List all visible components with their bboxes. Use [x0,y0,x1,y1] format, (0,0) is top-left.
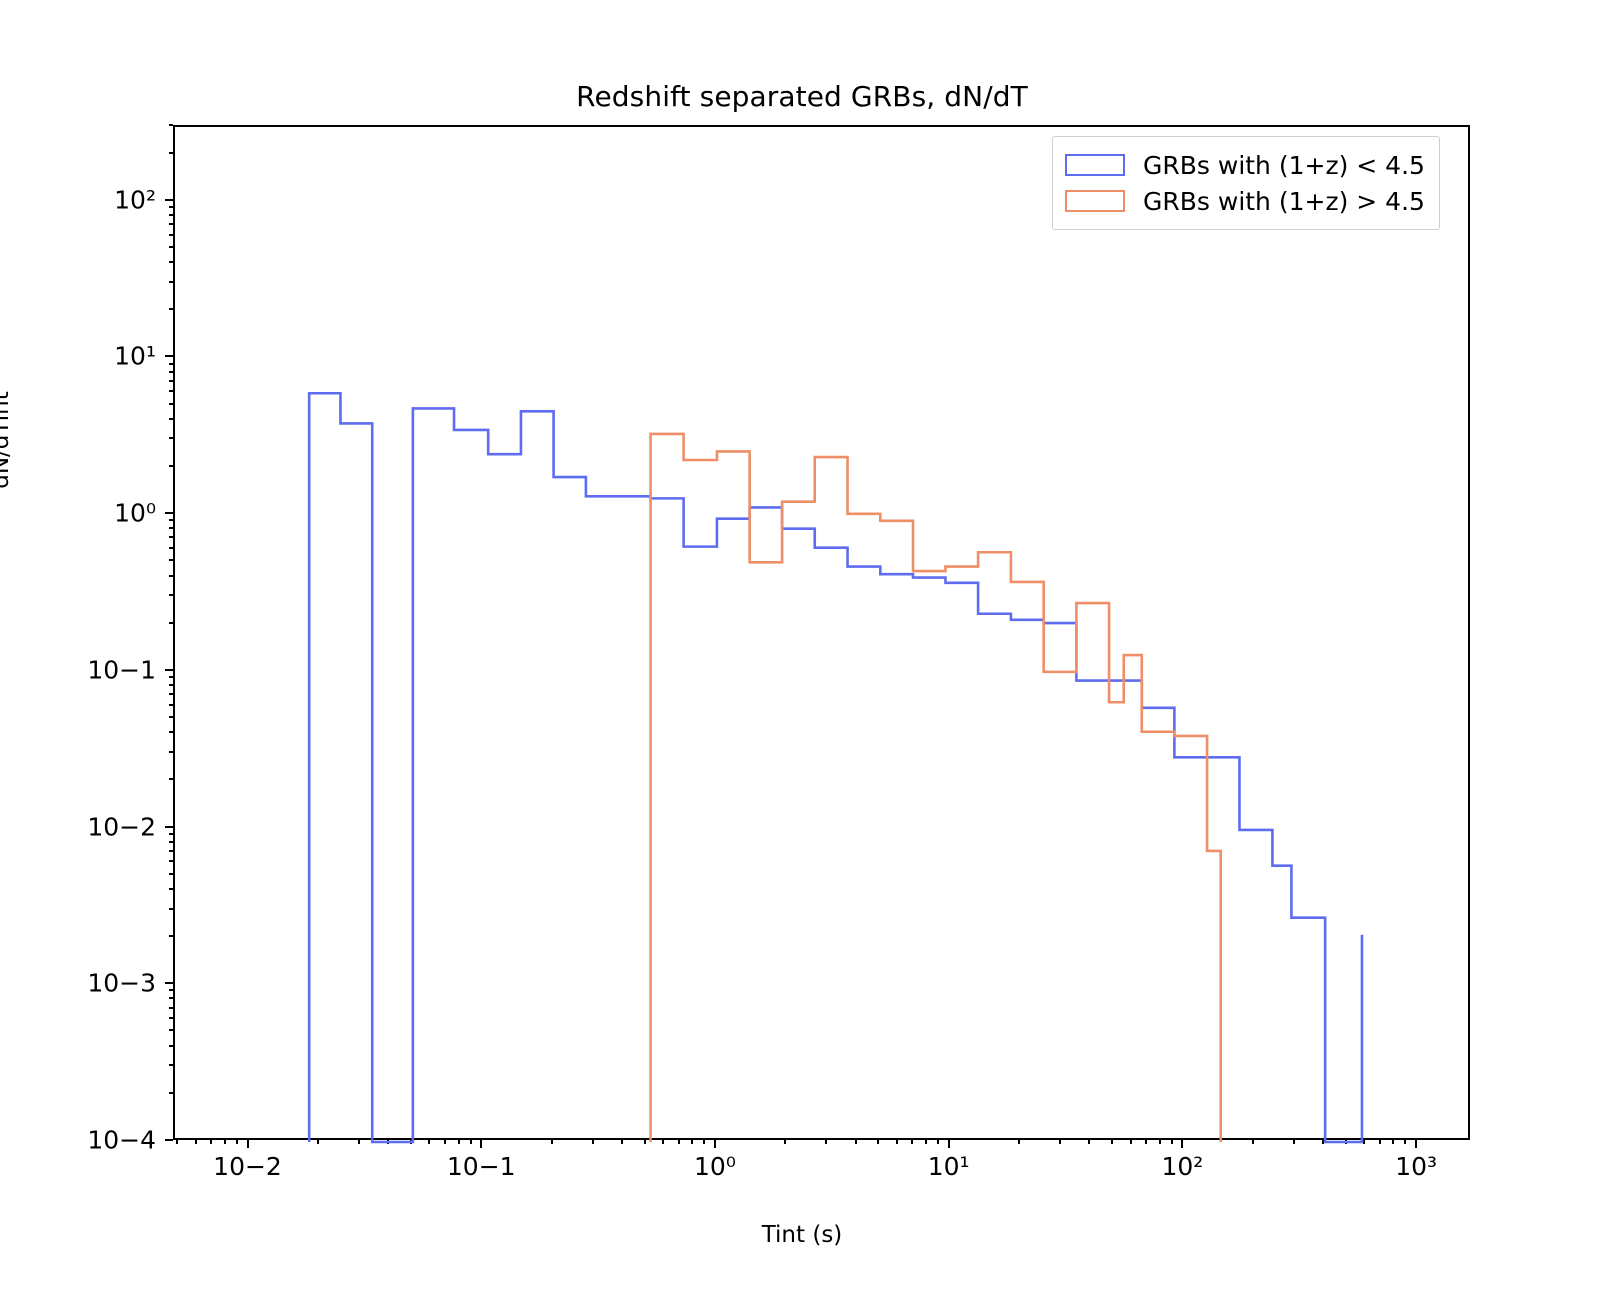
x-tick-label: 10¹ [928,1152,970,1181]
y-tick-major [165,355,173,357]
y-tick-label: 10⁰ [114,499,156,528]
x-tick-label: 10³ [1395,1152,1437,1181]
y-tick-major [165,669,173,671]
y-tick-label: 10−2 [87,812,156,841]
y-tick-major [165,826,173,828]
y-tick-label: 10−1 [87,655,156,684]
legend-item[interactable]: GRBs with (1+z) < 4.5 [1065,147,1425,183]
histogram-step-line [651,434,1221,1142]
x-axis-label: Tint (s) [0,1222,1604,1248]
histogram-curves [175,127,1472,1142]
chart-legend: GRBs with (1+z) < 4.5 GRBs with (1+z) > … [1052,136,1440,230]
legend-label-high-redshift: GRBs with (1+z) > 4.5 [1143,187,1425,216]
plot-area [173,125,1470,1140]
x-tick-label: 10−1 [447,1152,516,1181]
y-tick-major [165,199,173,201]
x-tick-label: 10² [1161,1152,1203,1181]
legend-item[interactable]: GRBs with (1+z) > 4.5 [1065,183,1425,219]
legend-swatch-high-redshift [1065,190,1125,212]
y-tick-major [165,982,173,984]
y-tick-major [165,1139,173,1141]
histogram-step-line [309,393,1362,1142]
y-tick-label: 10−4 [87,1126,156,1155]
x-tick-label: 10⁰ [694,1152,736,1181]
y-tick-major [165,512,173,514]
y-tick-label: 10−3 [87,969,156,998]
legend-label-low-redshift: GRBs with (1+z) < 4.5 [1143,151,1425,180]
y-axis-label: dN/dTint [0,320,14,560]
x-tick-label: 10−2 [213,1152,282,1181]
y-tick-label: 10¹ [114,342,156,371]
chart-title: Redshift separated GRBs, dN/dT [0,80,1604,113]
figure-canvas: Redshift separated GRBs, dN/dT dN/dTint … [0,0,1604,1304]
y-tick-label: 10² [114,185,156,214]
legend-swatch-low-redshift [1065,154,1125,176]
